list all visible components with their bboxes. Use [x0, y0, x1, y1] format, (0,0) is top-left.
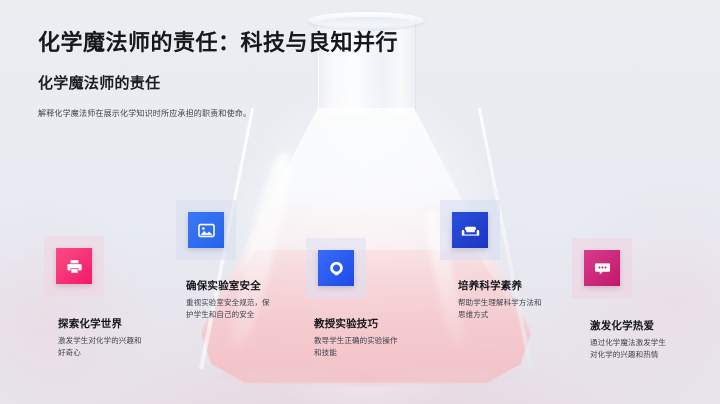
flask-base-shadow [206, 366, 526, 388]
section-heading: 化学魔法师的责任 [38, 72, 160, 93]
feature-card-lab-skills[interactable]: 教授实验技巧 教导学生正确的实验操作和技能 [306, 238, 436, 358]
icon-panel [440, 200, 500, 260]
card-body: 重视实验室安全规范，保护学生和自己的安全 [186, 297, 274, 320]
chat-bubble-icon-tile[interactable] [584, 250, 620, 286]
card-body: 激发学生对化学的兴趣和好奇心 [58, 335, 142, 358]
card-title: 培养科学素养 [458, 280, 570, 293]
card-body: 帮助学生理解科学方法和思维方式 [458, 297, 544, 320]
icon-panel [306, 238, 366, 298]
image-icon-tile[interactable] [188, 212, 224, 248]
printer-icon [65, 257, 84, 276]
image-icon [197, 221, 216, 240]
slide-canvas: 化学魔法师的责任：科技与良知并行 化学魔法师的责任 解释化学魔法师在展示化学知识… [0, 0, 720, 404]
feature-card-explore[interactable]: 探索化学世界 激发学生对化学的兴趣和好奇心 [44, 236, 174, 358]
section-description: 解释化学魔法师在展示化学知识时所应承担的职责和使命。 [38, 108, 251, 119]
printer-icon-tile[interactable] [56, 248, 92, 284]
icon-panel [572, 238, 632, 298]
sofa-icon [461, 221, 480, 240]
aperture-ring-icon-tile[interactable] [318, 250, 354, 286]
card-body: 通过化学魔法激发学生对化学的兴趣和热情 [590, 337, 670, 360]
card-title: 激发化学热爱 [590, 320, 702, 333]
feature-card-lab-safety[interactable]: 确保实验室安全 重视实验室安全规范，保护学生和自己的安全 [176, 200, 306, 320]
chat-bubble-icon [593, 259, 612, 278]
page-title: 化学魔法师的责任：科技与良知并行 [38, 25, 398, 57]
card-title: 探索化学世界 [58, 318, 174, 331]
icon-panel [176, 200, 236, 260]
sofa-icon-tile[interactable] [452, 212, 488, 248]
feature-card-passion[interactable]: 激发化学热爱 通过化学魔法激发学生对化学的兴趣和热情 [572, 238, 702, 360]
card-title: 教授实验技巧 [314, 318, 436, 331]
icon-panel [44, 236, 104, 296]
aperture-ring-icon [327, 259, 346, 278]
feature-card-science-literacy[interactable]: 培养科学素养 帮助学生理解科学方法和思维方式 [440, 200, 570, 320]
card-body: 教导学生正确的实验操作和技能 [314, 335, 402, 358]
card-title: 确保实验室安全 [186, 280, 306, 293]
